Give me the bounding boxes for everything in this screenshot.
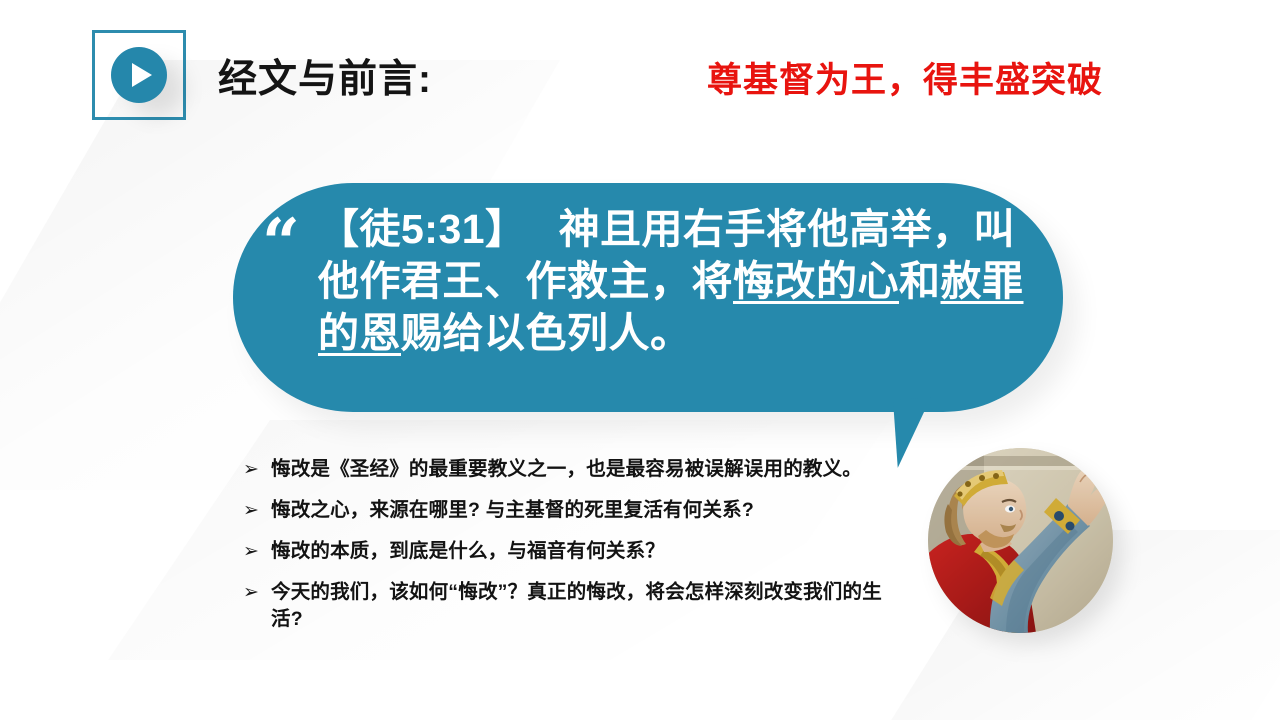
list-item: ➢ 悔改的本质，到底是什么，与福音有何关系？ xyxy=(243,538,903,565)
arrow-bullet-icon: ➢ xyxy=(243,579,271,606)
quote-reference: 【徒5:31】 xyxy=(318,206,527,252)
quotation-mark-icon: “ xyxy=(262,210,298,276)
quote-line3-underlined-a: 心 xyxy=(858,258,900,304)
quote-line2-underlined: 悔改的 xyxy=(733,258,858,304)
list-item: ➢ 今天的我们，该如何“悔改”？真正的悔改，将会怎样深刻改变我们的生活? xyxy=(243,579,903,633)
quote-line1-rest: 神且用右手将他高举， xyxy=(559,206,974,252)
list-item-label: 悔改之心，来源在哪里? 与主基督的死里复活有何关系? xyxy=(271,497,903,524)
page-title: 经文与前言: xyxy=(218,48,432,104)
slide-canvas: 经文与前言: 尊基督为王，得丰盛突破 “ 【徒5:31】神且用右手将他高举，叫他… xyxy=(0,0,1280,720)
arrow-bullet-icon: ➢ xyxy=(243,538,271,565)
list-item-label: 悔改的本质，到底是什么，与福音有何关系？ xyxy=(271,538,903,565)
list-item: ➢ 悔改是《圣经》的最重要教义之一，也是最容易被误解误用的教义。 xyxy=(243,456,903,483)
arrow-bullet-icon: ➢ xyxy=(243,497,271,524)
list-item: ➢ 悔改之心，来源在哪里? 与主基督的死里复活有何关系? xyxy=(243,497,903,524)
crowned-king-praying-illustration xyxy=(928,448,1113,633)
play-button-icon[interactable] xyxy=(111,47,167,103)
list-item-label: 悔改是《圣经》的最重要教义之一，也是最容易被误解误用的教义。 xyxy=(271,456,903,483)
arrow-bullet-icon: ➢ xyxy=(243,456,271,483)
quote-line3-plain-a: 和 xyxy=(899,258,941,304)
header-subtitle: 尊基督为王，得丰盛突破 xyxy=(707,52,1103,103)
quote-text: 【徒5:31】神且用右手将他高举，叫他作君王、作救主，将悔改的心和赦罪的恩赐给以… xyxy=(318,203,1040,359)
quote-line3-plain-b: 赐给以色列人。 xyxy=(401,310,692,356)
bullet-list: ➢ 悔改是《圣经》的最重要教义之一，也是最容易被误解误用的教义。 ➢ 悔改之心，… xyxy=(243,456,903,647)
slide-header: 经文与前言: 尊基督为王，得丰盛突破 xyxy=(0,0,1280,150)
list-item-label: 今天的我们，该如何“悔改”？真正的悔改，将会怎样深刻改变我们的生活? xyxy=(271,579,903,633)
